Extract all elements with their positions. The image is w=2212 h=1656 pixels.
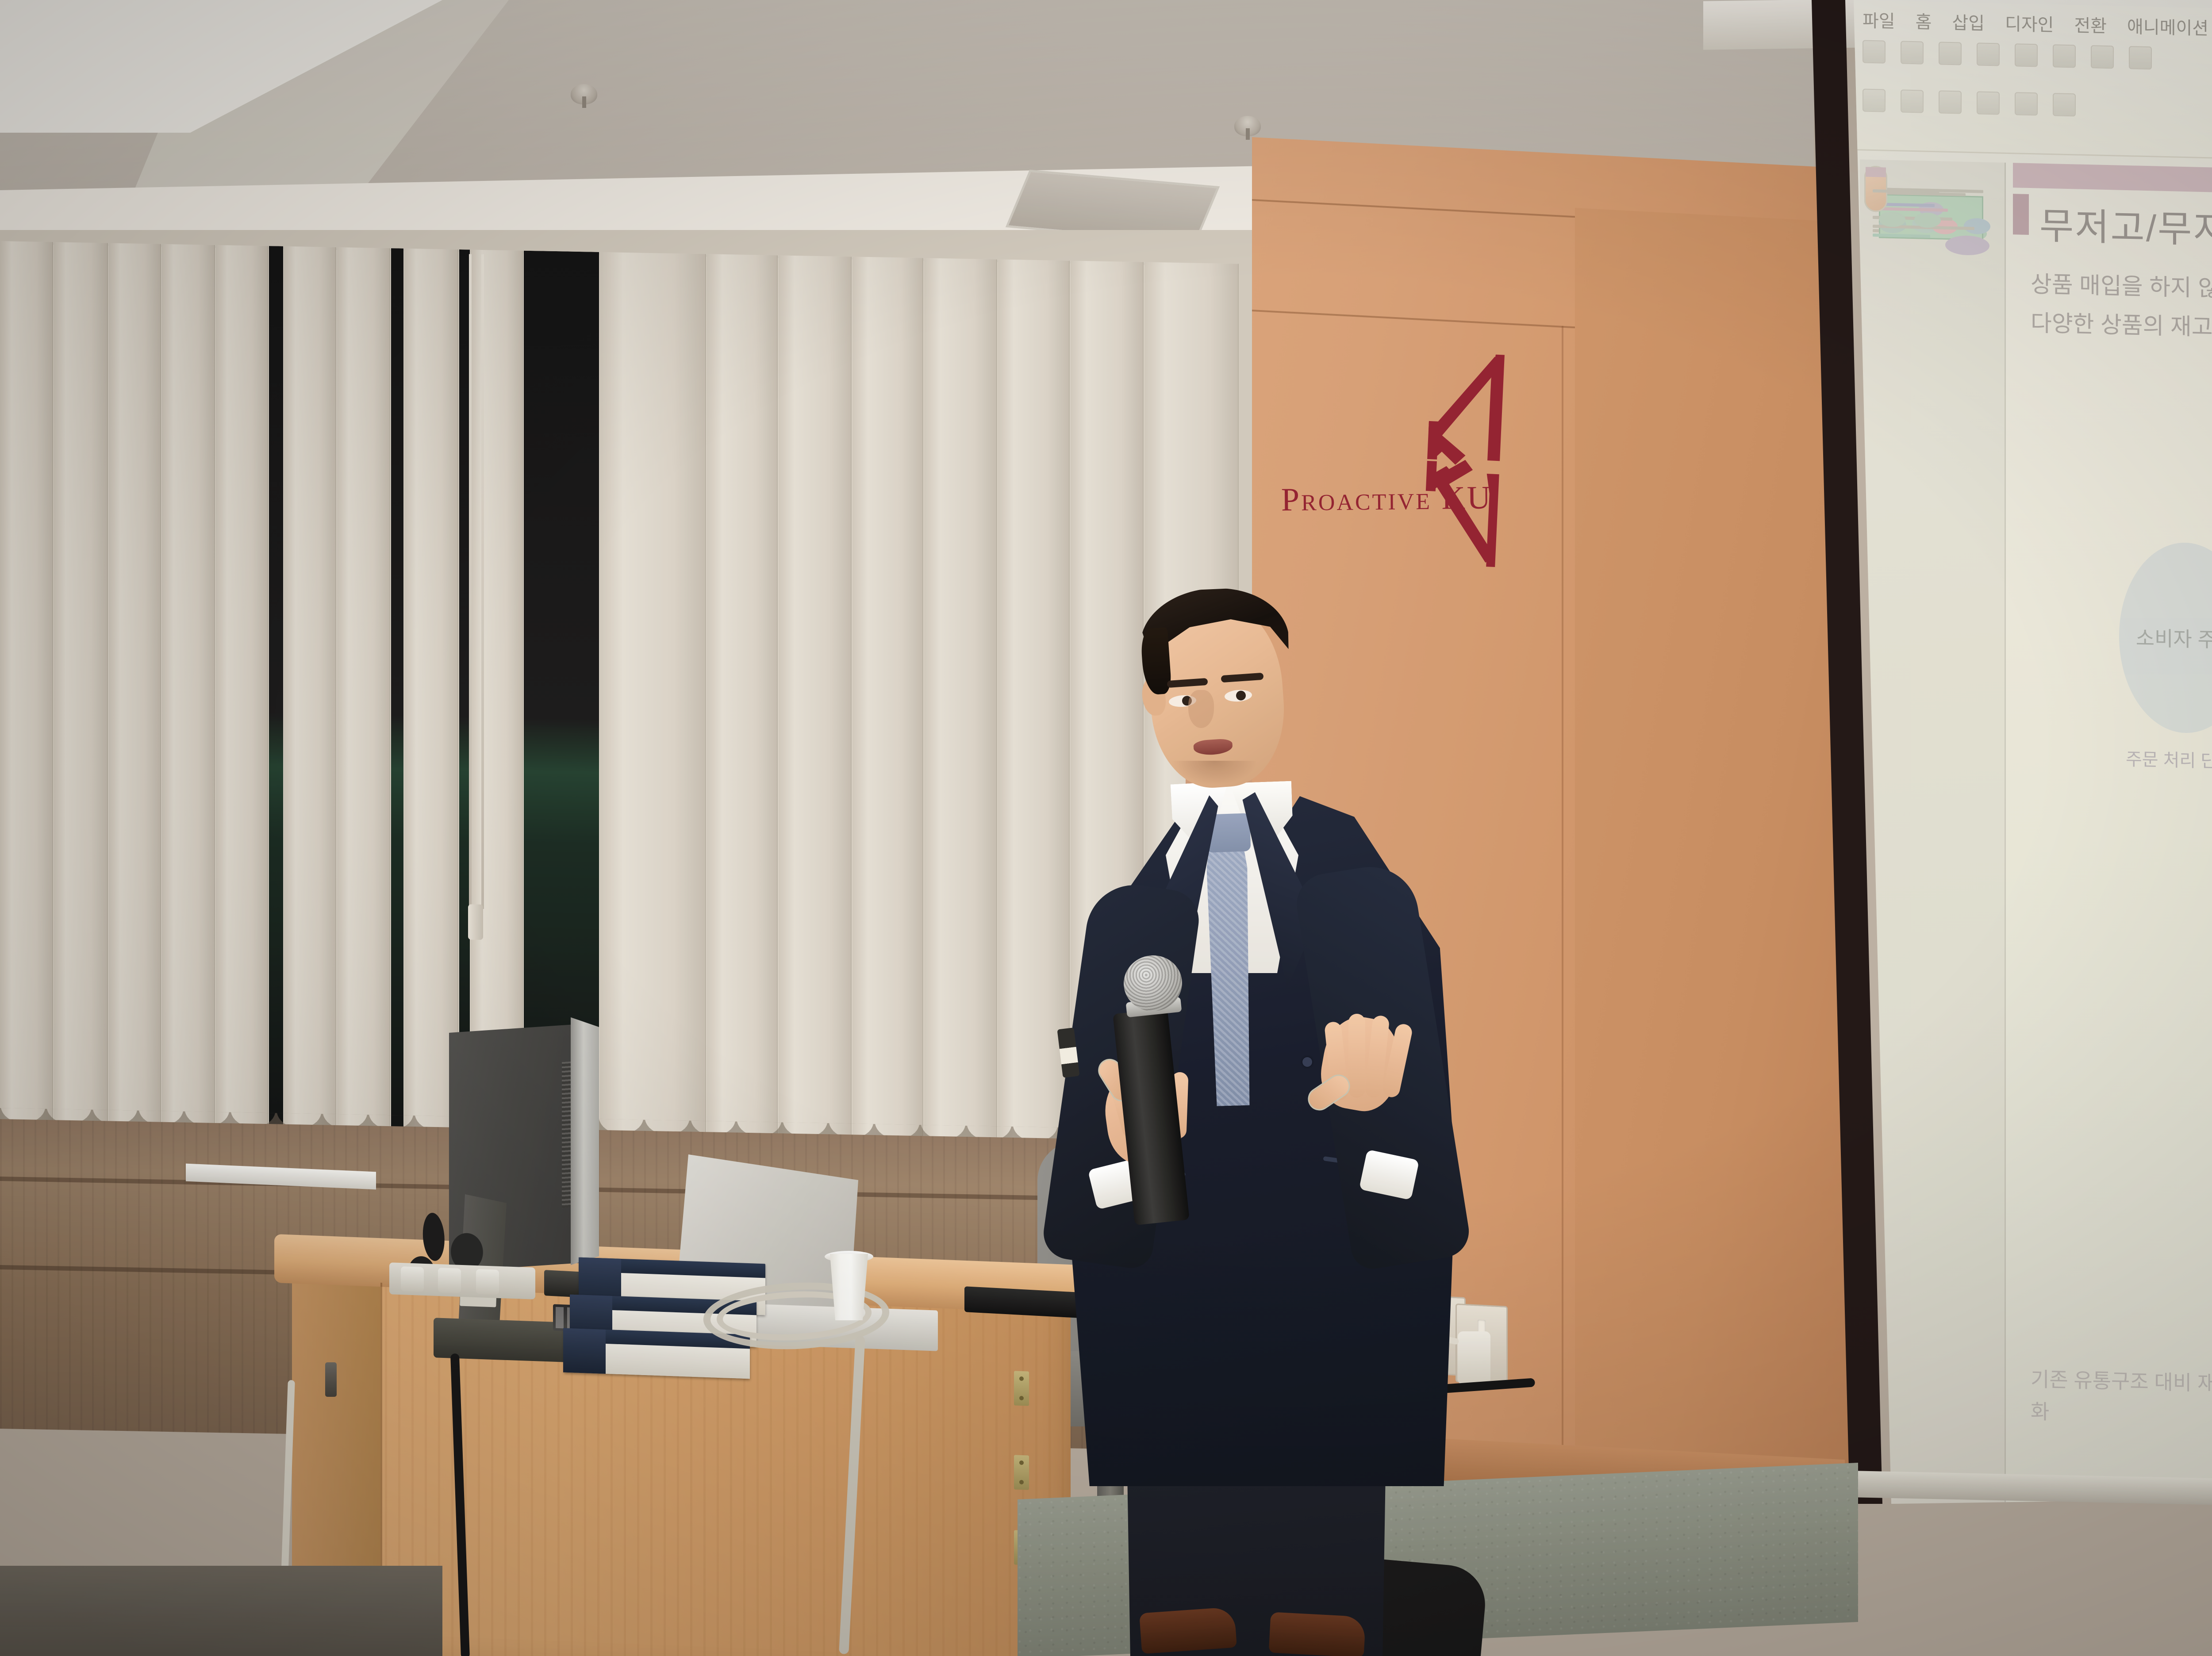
slide-thumbnail[interactable]	[1864, 166, 1887, 212]
shape-outline-icon[interactable]	[1939, 90, 1962, 114]
powerpoint-ribbon: 파일 홈 삽입 디자인 전환 애니메이션 슬라이드 쇼	[1854, 0, 2212, 165]
font-icon[interactable]	[1939, 42, 1962, 65]
cabinet-lock[interactable]	[325, 1362, 337, 1397]
slide-thumbnail-panel[interactable]	[1860, 159, 2006, 1504]
blind-gap-dark	[391, 248, 403, 1146]
powerpoint-window: 파일 홈 삽입 디자인 전환 애니메이션 슬라이드 쇼	[1854, 0, 2212, 1504]
diagram-node-1: 소비자 주문	[2119, 541, 2212, 735]
presenter	[1040, 575, 1482, 1656]
menu-item[interactable]: 홈	[1916, 8, 1932, 34]
align-icon[interactable]	[2053, 44, 2076, 68]
select-icon[interactable]	[2053, 93, 2076, 116]
menu-item[interactable]: 전환	[2074, 11, 2107, 38]
diagram-node-1-caption: 주문 처리 단계	[2126, 745, 2212, 773]
replace-icon[interactable]	[2015, 92, 2038, 115]
menu-item[interactable]: 애니메이션	[2127, 12, 2208, 40]
slide-title: 무저고/무저본 유통 시스템	[2039, 196, 2212, 260]
find-icon[interactable]	[1977, 91, 2000, 115]
presentation-photo-scene: Proactive KU 파일 홈 삽입 디자인 전환 애니메이션 슬라이드 쇼	[0, 0, 2212, 1656]
floor-left-dark	[0, 1566, 442, 1656]
wood-feature-wall-right	[1575, 208, 1849, 1593]
slide-body-line: 다양한 상품의 재고 없이 판매 가능한 유통	[2031, 304, 2212, 353]
powerpoint-menu-bar[interactable]: 파일 홈 삽입 디자인 전환 애니메이션 슬라이드 쇼	[1863, 6, 2212, 42]
arrange-icon[interactable]	[2129, 46, 2152, 69]
dress-shoe	[1139, 1607, 1237, 1654]
blind-control-cord[interactable]	[481, 254, 484, 909]
monitor-bezel-side	[571, 1017, 599, 1265]
sprinkler-head-icon	[1234, 116, 1261, 136]
power-plug[interactable]	[476, 1269, 499, 1295]
thumb-title-bar	[1866, 167, 1886, 177]
proactive-ku-chevron-mark-icon	[1380, 343, 1505, 569]
new-slide-icon[interactable]	[1901, 41, 1924, 64]
slide-footer-text: 기존 유통구조 대비 재고 비용 절감 및 운영 효율 극대화	[2031, 1363, 2212, 1438]
slide-title-accent-bar	[2013, 194, 2029, 235]
menu-item[interactable]: 파일	[1863, 6, 1895, 33]
cabinet-hinge	[1014, 1371, 1029, 1406]
proactive-ku-logo-text: Proactive KU	[1281, 479, 1492, 519]
slide-body: 상품 매입을 하지 않고 실시간으로 배송하여 다양한 상품의 재고 없이 판매…	[2031, 265, 2212, 353]
menu-item[interactable]: 삽입	[1952, 8, 1985, 35]
bullet-list-icon[interactable]	[2015, 43, 2038, 67]
nose	[1188, 690, 1214, 728]
power-strip[interactable]	[389, 1262, 535, 1299]
jacket-button	[1302, 1057, 1312, 1067]
blind-cord-weight[interactable]	[468, 904, 483, 940]
book-spine	[563, 1328, 606, 1374]
blind-window-opening	[524, 251, 599, 1150]
quick-styles-icon[interactable]	[1863, 88, 1886, 112]
shapes-icon[interactable]	[2091, 45, 2114, 69]
sprinkler-head-icon	[571, 84, 597, 104]
menu-item[interactable]: 디자인	[2005, 10, 2054, 37]
chin-shadow	[1172, 761, 1256, 785]
blind-gap-dark	[459, 249, 470, 1147]
proactive-ku-logo: Proactive KU	[1269, 329, 1590, 590]
cabinet-hinge	[1014, 1455, 1029, 1490]
power-plug[interactable]	[401, 1266, 424, 1292]
blind-gap-dark	[269, 246, 283, 1144]
ribbon-tools-row-1[interactable]	[1863, 40, 2152, 69]
slide-header-band	[2013, 163, 2212, 199]
shape-fill-icon[interactable]	[1901, 89, 1924, 113]
dress-shoe	[1269, 1612, 1366, 1656]
pupil	[1236, 690, 1246, 701]
bold-icon[interactable]	[1977, 42, 2000, 66]
ribbon-tools-row-2[interactable]	[1863, 88, 2076, 116]
paste-icon[interactable]	[1863, 40, 1886, 63]
power-plug[interactable]	[438, 1268, 461, 1293]
blind-control-cord[interactable]	[469, 254, 472, 917]
diagram-node-1-label: 소비자 주문	[2136, 622, 2212, 653]
finger	[1348, 1014, 1365, 1098]
active-slide: 무저고/무저본 유통 시스템 상품 매입을 하지 않고 실시간으로 배송하여 다…	[2013, 167, 2212, 1457]
